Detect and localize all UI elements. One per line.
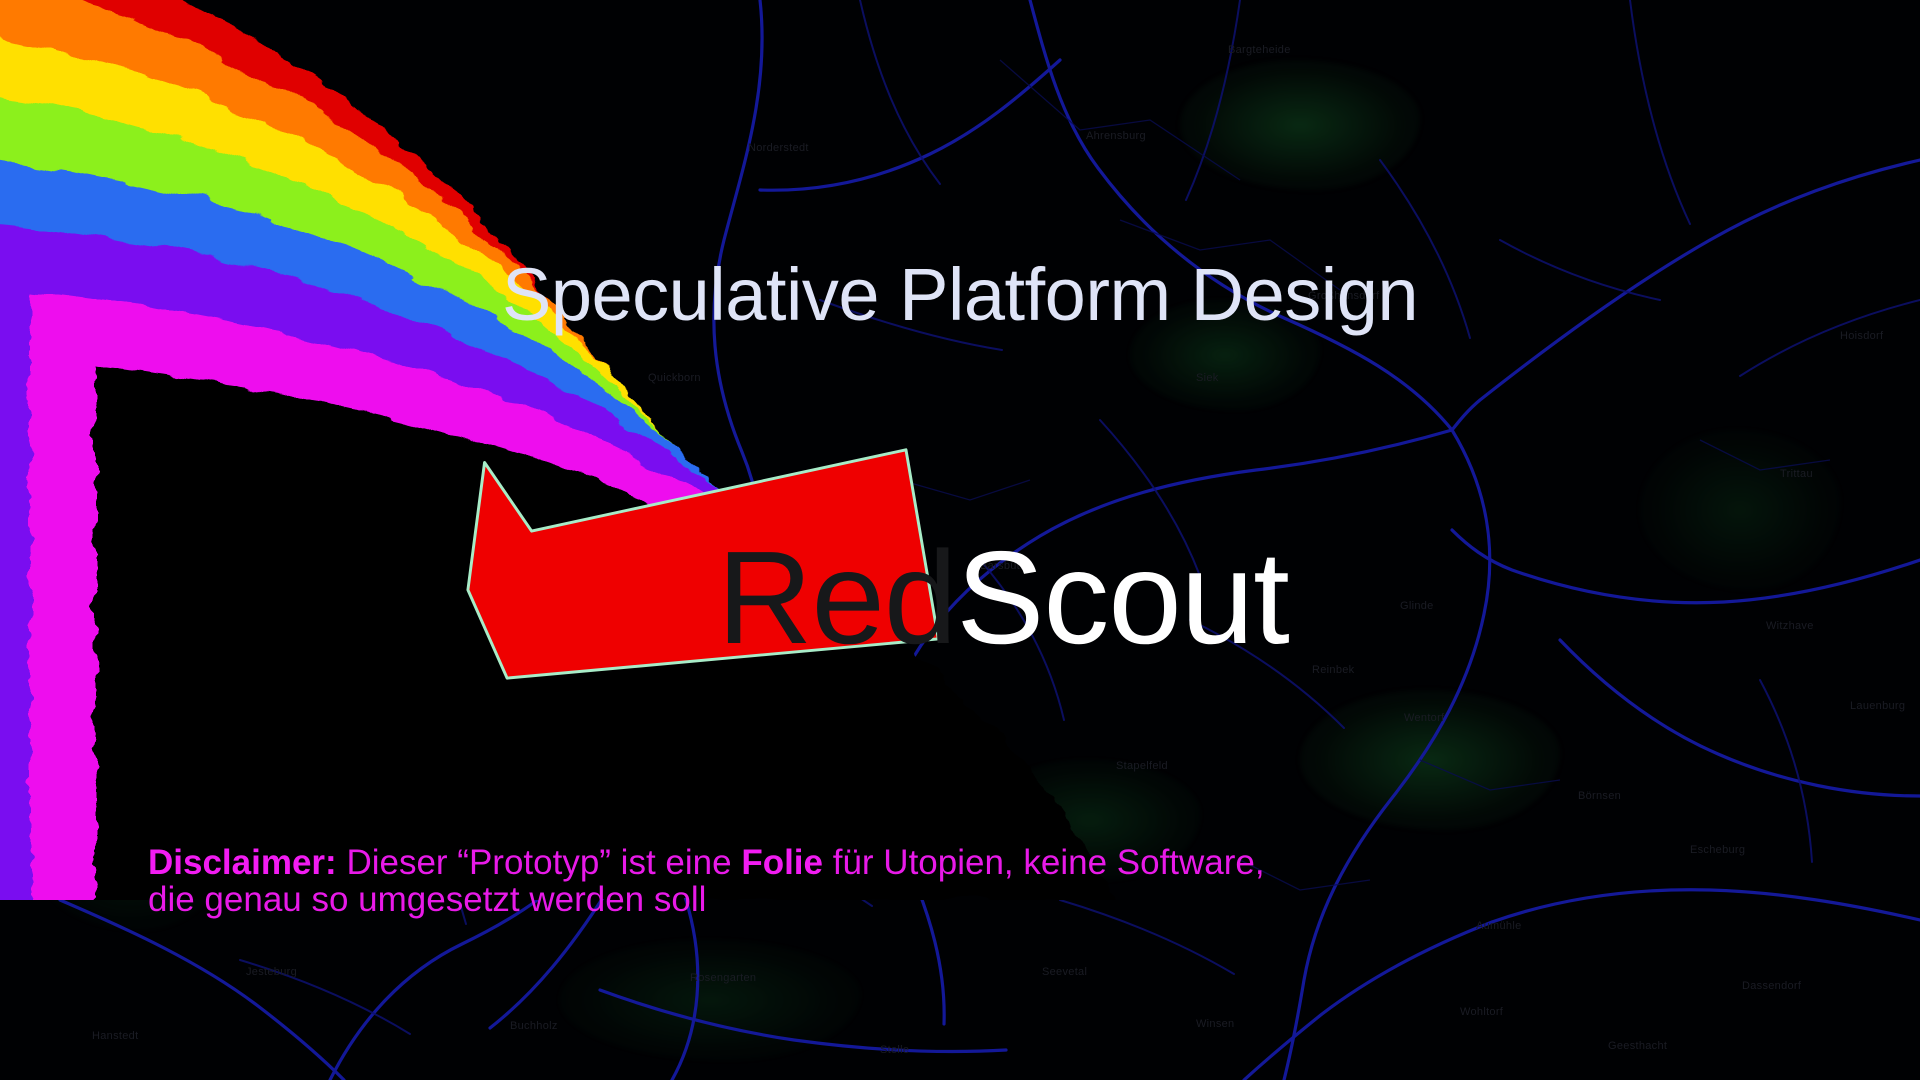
map-label: Seevetal [1042,966,1087,978]
map-label: Norderstedt [748,142,809,154]
page-title: Speculative Platform Design [0,252,1920,337]
map-label: Bargteheide [1228,44,1291,56]
disclaimer-line-2: die genau so umgesetzt werden soll [148,881,1788,918]
disclaimer-label: Disclaimer: [148,843,337,882]
map-label: Geesthacht [1608,1040,1667,1052]
logo-word-red: Red [717,524,956,671]
map-label: Dassendorf [1742,980,1801,992]
map-label: Winsen [1196,1018,1234,1030]
map-label: Stapelfeld [1116,760,1168,772]
disclaimer-line-1: Disclaimer: Dieser “Prototyp” ist eine F… [148,844,1788,881]
logo-wordmark: RedScout [0,532,1920,664]
map-label: Jesteburg [246,966,297,978]
disclaimer-line1-part2: für Utopien, keine Software, [823,843,1265,882]
disclaimer-emphasis: Folie [741,843,823,882]
map-label: Halstenbek [398,806,456,818]
map-label: Buchholz [510,1020,558,1032]
disclaimer-text: Disclaimer: Dieser “Prototyp” ist eine F… [148,844,1788,919]
logo-word-scout: Scout [956,524,1289,671]
logo-lockup: RedScout [0,430,1920,760]
map-label: Hanstedt [92,1030,138,1042]
disclaimer-line1-part1: Dieser “Prototyp” ist eine [337,843,742,882]
map-label: Ahrensburg [1086,130,1146,142]
map-label: Wohltorf [1460,1006,1503,1018]
map-label: Quickborn [648,372,701,384]
map-label: Siek [1196,372,1219,384]
presentation-slide: Bargteheide Ahrensburg Großhansdorf Siek… [0,0,1920,1080]
map-label: Rosengarten [690,972,756,984]
map-label: Aumühle [1476,920,1522,932]
map-label: Börnsen [1578,790,1621,802]
map-label: Stelle [880,1044,909,1056]
